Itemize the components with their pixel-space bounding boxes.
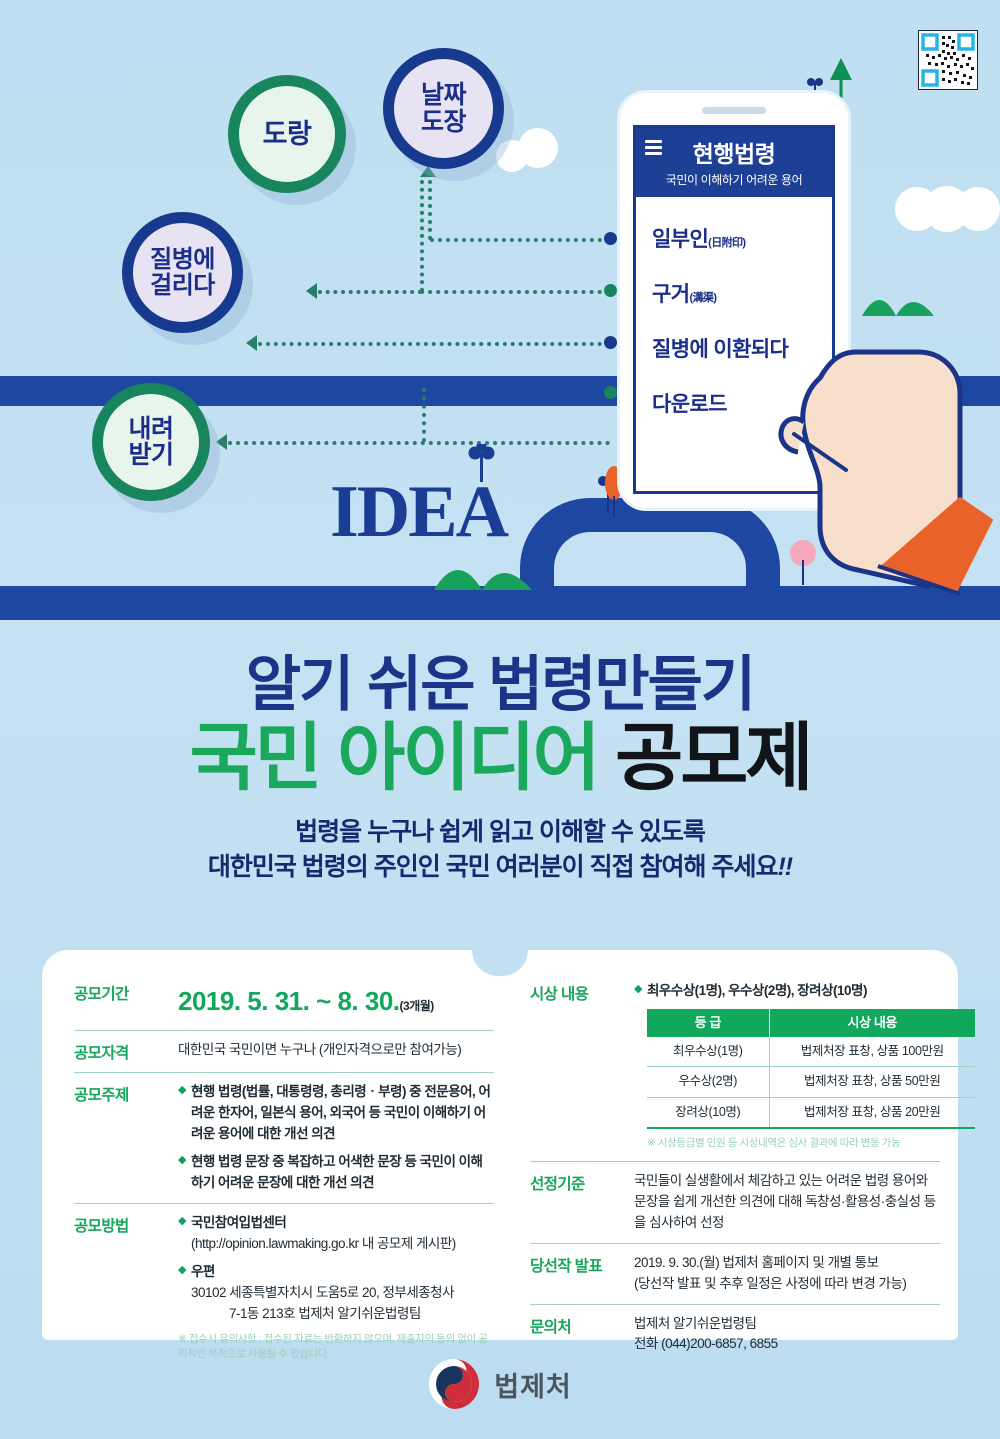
row-body: 2019. 5. 31. ~ 8. 30.(3개월) [178, 981, 494, 1021]
sprout-icon [466, 444, 498, 484]
list-item: ◆ 국민참여입법센터 (http://opinion.lawmaking.go.… [178, 1213, 494, 1255]
page-title-line1: 알기 쉬운 법령만들기 [0, 655, 1000, 715]
term-bubble-label-line1: 내려 [128, 415, 173, 443]
row-label: 당선작 발표 [530, 1253, 634, 1295]
row-body: ◆ 최우수상(1명), 우수상(2명), 장려상(10명) 등 급 시상 내용 [634, 981, 975, 1152]
connector-line [420, 290, 610, 294]
list-item: ◆ 현행 법령(법률, 대통령령, 총리령ㆍ부령) 중 전문용어, 어려운 한자… [178, 1082, 494, 1145]
term-bubble-label-line1: 질병에 [150, 246, 215, 273]
phone-app-header: 현행법령 국민이 이해하기 어려운 용어 [636, 128, 832, 197]
cell-prize: 법제처장 표창, 상품 20만원 [769, 1097, 975, 1128]
method-detail[interactable]: (http://opinion.lawmaking.go.kr 내 공모제 게시… [191, 1236, 456, 1251]
cell-grade: 장려상(10명) [647, 1097, 769, 1128]
term-hanja: (溝渠) [689, 292, 716, 304]
info-row-topic: 공모주제 ◆ 현행 법령(법률, 대통령령, 총리령ㆍ부령) 중 전문용어, 어… [74, 1072, 494, 1203]
cloud-icon [492, 128, 566, 172]
subtitle-line1: 법령을 누구나 쉽게 읽고 이해할 수 있도록 [295, 818, 705, 846]
row-body: ◆ 현행 법령(법률, 대통령령, 총리령ㆍ부령) 중 전문용어, 어려운 한자… [178, 1082, 494, 1194]
info-row-contact: 문의처 법제처 알기쉬운법령팀 전화 (044)200-6857, 6855 [530, 1304, 940, 1365]
footer-org-name: 법제처 [494, 1365, 572, 1404]
connector-endpoint [604, 336, 617, 349]
bullet-text: 우편 30102 세종특별자치시 도움5로 20, 정부세종청사 7-1동 21… [191, 1262, 494, 1325]
row-body: ◆ 국민참여입법센터 (http://opinion.lawmaking.go.… [178, 1213, 494, 1363]
info-row-period: 공모기간 2019. 5. 31. ~ 8. 30.(3개월) [74, 972, 494, 1030]
phone-app-title: 현행법령 [636, 135, 832, 169]
bullet-text: 최우수상(1명), 우수상(2명), 장려상(10명) [647, 981, 975, 1002]
info-column-right: 시상 내용 ◆ 최우수상(1명), 우수상(2명), 장려상(10명) 등 급 … [512, 972, 958, 1340]
list-item: ◆ 현행 법령 문장 중 복잡하고 어색한 문장 등 국민이 이해하기 어려운 … [178, 1152, 494, 1194]
subtitle-mark: !! [777, 853, 792, 881]
table-row: 장려상(10명) 법제처장 표창, 상품 20만원 [647, 1097, 975, 1128]
awards-note: ※ 시상등급별 인원 등 시상내역은 심사 결과에 따라 변동 가능 [647, 1136, 975, 1152]
info-row-method: 공모방법 ◆ 국민참여입법센터 (http://opinion.lawmakin… [74, 1203, 494, 1372]
connector-arrow-left-icon [246, 335, 257, 351]
term-hanja: (日附印) [708, 237, 745, 249]
bullet-text: 현행 법령(법률, 대통령령, 총리령ㆍ부령) 중 전문용어, 어려운 한자어,… [191, 1082, 494, 1145]
info-panel: 공모기간 2019. 5. 31. ~ 8. 30.(3개월) 공모자격 대한민… [42, 950, 958, 1340]
connector-line [430, 238, 610, 242]
footer: 법제처 [0, 1358, 1000, 1410]
term-bubble-illness[interactable]: 질병에 걸리다 [122, 212, 243, 333]
row-body: 2019. 9. 30.(월) 법제처 홈페이지 및 개별 통보 (당선작 발표… [634, 1253, 940, 1295]
idea-logo: IDEA [330, 470, 507, 555]
connector-line [428, 172, 432, 240]
period-note: (3개월) [400, 999, 434, 1013]
list-item: ◆ 우편 30102 세종특별자치시 도움5로 20, 정부세종청사 7-1동 … [178, 1262, 494, 1325]
connector-arrow-left-icon [216, 434, 227, 450]
cell-prize: 법제처장 표창, 상품 50만원 [769, 1067, 975, 1097]
hill-icon [860, 282, 936, 316]
hand-illustration [760, 330, 1000, 620]
connector-line [318, 290, 422, 294]
phone-speaker [702, 107, 766, 114]
info-column-left: 공모기간 2019. 5. 31. ~ 8. 30.(3개월) 공모자격 대한민… [42, 972, 512, 1340]
method-title: 국민참여입법센터 [191, 1215, 286, 1230]
illustration-stage: 도랑 날짜 도장 질병에 걸리다 내려 받기 [0, 0, 1000, 640]
page-title-line2: 국민 아이디어 공모제 [0, 719, 1000, 797]
row-body: 대한민국 국민이면 누구나 (개인자격으로만 참여가능) [178, 1040, 494, 1063]
cloud-icon [895, 185, 1000, 233]
term-bubble-date-stamp[interactable]: 날짜 도장 [383, 48, 504, 169]
term-text: 다운로드 [652, 393, 727, 416]
qr-code-icon[interactable] [918, 30, 978, 90]
awards-table: 등 급 시상 내용 최우수상(1명) 법제처장 표창, 상품 100만원 [647, 1009, 975, 1129]
title-block: 알기 쉬운 법령만들기 국민 아이디어 공모제 법령을 누구나 쉽게 읽고 이해… [0, 655, 1000, 886]
taegeuk-government-logo-icon [428, 1358, 480, 1410]
term-text: 일부인 [652, 228, 708, 251]
page-title-black: 공모제 [615, 716, 810, 799]
awards-summary: ◆ 최우수상(1명), 우수상(2명), 장려상(10명) [634, 981, 975, 1002]
cell-prize: 법제처장 표창, 상품 100만원 [769, 1037, 975, 1067]
term-bubble-dorang[interactable]: 도랑 [228, 75, 346, 193]
row-label: 문의처 [530, 1314, 634, 1356]
connector-line [258, 342, 610, 346]
subtitle: 법령을 누구나 쉽게 읽고 이해할 수 있도록 대한민국 법령의 주인인 국민 … [0, 815, 1000, 886]
term-bubble-label-line2: 받기 [128, 441, 173, 469]
connector-endpoint [604, 284, 617, 297]
phone-app-subtitle: 국민이 이해하기 어려운 용어 [636, 171, 832, 188]
table-row: 우수상(2명) 법제처장 표창, 상품 50만원 [647, 1067, 975, 1097]
list-item[interactable]: 구거(溝渠) [652, 278, 832, 308]
cell-grade: 최우수상(1명) [647, 1037, 769, 1067]
info-row-eligibility: 공모자격 대한민국 국민이면 누구나 (개인자격으로만 참여가능) [74, 1030, 494, 1072]
row-label: 공모기간 [74, 981, 178, 1021]
list-item[interactable]: 일부인(日附印) [652, 223, 832, 253]
info-row-announcement: 당선작 발표 2019. 9. 30.(월) 법제처 홈페이지 및 개별 통보 … [530, 1243, 940, 1304]
term-bubble-label: 도랑 [263, 120, 312, 149]
connector-endpoint [604, 386, 617, 399]
term-bubble-download[interactable]: 내려 받기 [92, 383, 210, 501]
term-bubble-label-line2: 도장 [421, 108, 466, 136]
info-row-criteria: 선정기준 국민들이 실생활에서 체감하고 있는 어려운 법령 용어와 문장을 쉽… [530, 1161, 940, 1243]
diamond-bullet-icon: ◆ [634, 981, 642, 1002]
term-bubble-label: 질병에 걸리다 [150, 247, 215, 298]
page-title-green: 국민 아이디어 [190, 716, 598, 799]
row-label: 공모자격 [74, 1040, 178, 1063]
row-body: 국민들이 실생활에서 체감하고 있는 어려운 법령 용어와 문장을 쉽게 개선한… [634, 1171, 940, 1234]
term-bubble-label: 날짜 도장 [421, 82, 466, 135]
row-label: 시상 내용 [530, 981, 634, 1152]
diamond-bullet-icon: ◆ [178, 1152, 186, 1194]
connector-endpoint [604, 232, 617, 245]
road-curve [520, 498, 780, 620]
row-label: 공모주제 [74, 1082, 178, 1194]
bullet-text: 국민참여입법센터 (http://opinion.lawmaking.go.kr… [191, 1213, 494, 1255]
method-detail2: 7-1동 213호 법제처 알기쉬운법령팀 [191, 1304, 421, 1325]
diamond-bullet-icon: ◆ [178, 1213, 186, 1255]
announcement-line1: 2019. 9. 30.(월) 법제처 홈페이지 및 개별 통보 [634, 1253, 940, 1274]
cell-grade: 우수상(2명) [647, 1067, 769, 1097]
term-bubble-label: 내려 받기 [128, 416, 173, 469]
diamond-bullet-icon: ◆ [178, 1082, 186, 1145]
column-header-grade: 등 급 [647, 1009, 769, 1037]
period-value: 2019. 5. 31. ~ 8. 30. [178, 986, 400, 1016]
row-label: 선정기준 [530, 1171, 634, 1234]
hamburger-menu-icon[interactable] [645, 140, 662, 158]
method-detail: 30102 세종특별자치시 도움5로 20, 정부세종청사 [191, 1285, 454, 1300]
connector-line [228, 441, 610, 445]
contact-phone: 전화 (044)200-6857, 6855 [634, 1334, 940, 1355]
row-body: 법제처 알기쉬운법령팀 전화 (044)200-6857, 6855 [634, 1314, 940, 1356]
term-bubble-label-line2: 걸리다 [150, 272, 215, 299]
contact-team: 법제처 알기쉬운법령팀 [634, 1314, 940, 1335]
table-row: 최우수상(1명) 법제처장 표창, 상품 100만원 [647, 1037, 975, 1067]
connector-line [420, 180, 424, 292]
connector-line [422, 388, 426, 442]
row-label: 공모방법 [74, 1213, 178, 1363]
poster-canvas: 도랑 날짜 도장 질병에 걸리다 내려 받기 [0, 0, 1000, 1439]
column-header-prize: 시상 내용 [769, 1009, 975, 1037]
term-bubble-label-line1: 날짜 [421, 81, 466, 109]
announcement-line2: (당선작 발표 및 추후 일정은 사정에 따라 변경 가능) [634, 1274, 940, 1295]
term-text: 구거 [652, 283, 689, 306]
connector-arrow-left-icon [306, 283, 317, 299]
diamond-bullet-icon: ◆ [178, 1262, 186, 1325]
bullet-text: 현행 법령 문장 중 복잡하고 어색한 문장 등 국민이 이해하기 어려운 문장… [191, 1152, 494, 1194]
subtitle-line2: 대한민국 법령의 주인인 국민 여러분이 직접 참여해 주세요 [208, 853, 778, 881]
table-header-row: 등 급 시상 내용 [647, 1009, 975, 1037]
info-row-awards: 시상 내용 ◆ 최우수상(1명), 우수상(2명), 장려상(10명) 등 급 … [530, 972, 940, 1161]
method-title: 우편 [191, 1264, 215, 1279]
